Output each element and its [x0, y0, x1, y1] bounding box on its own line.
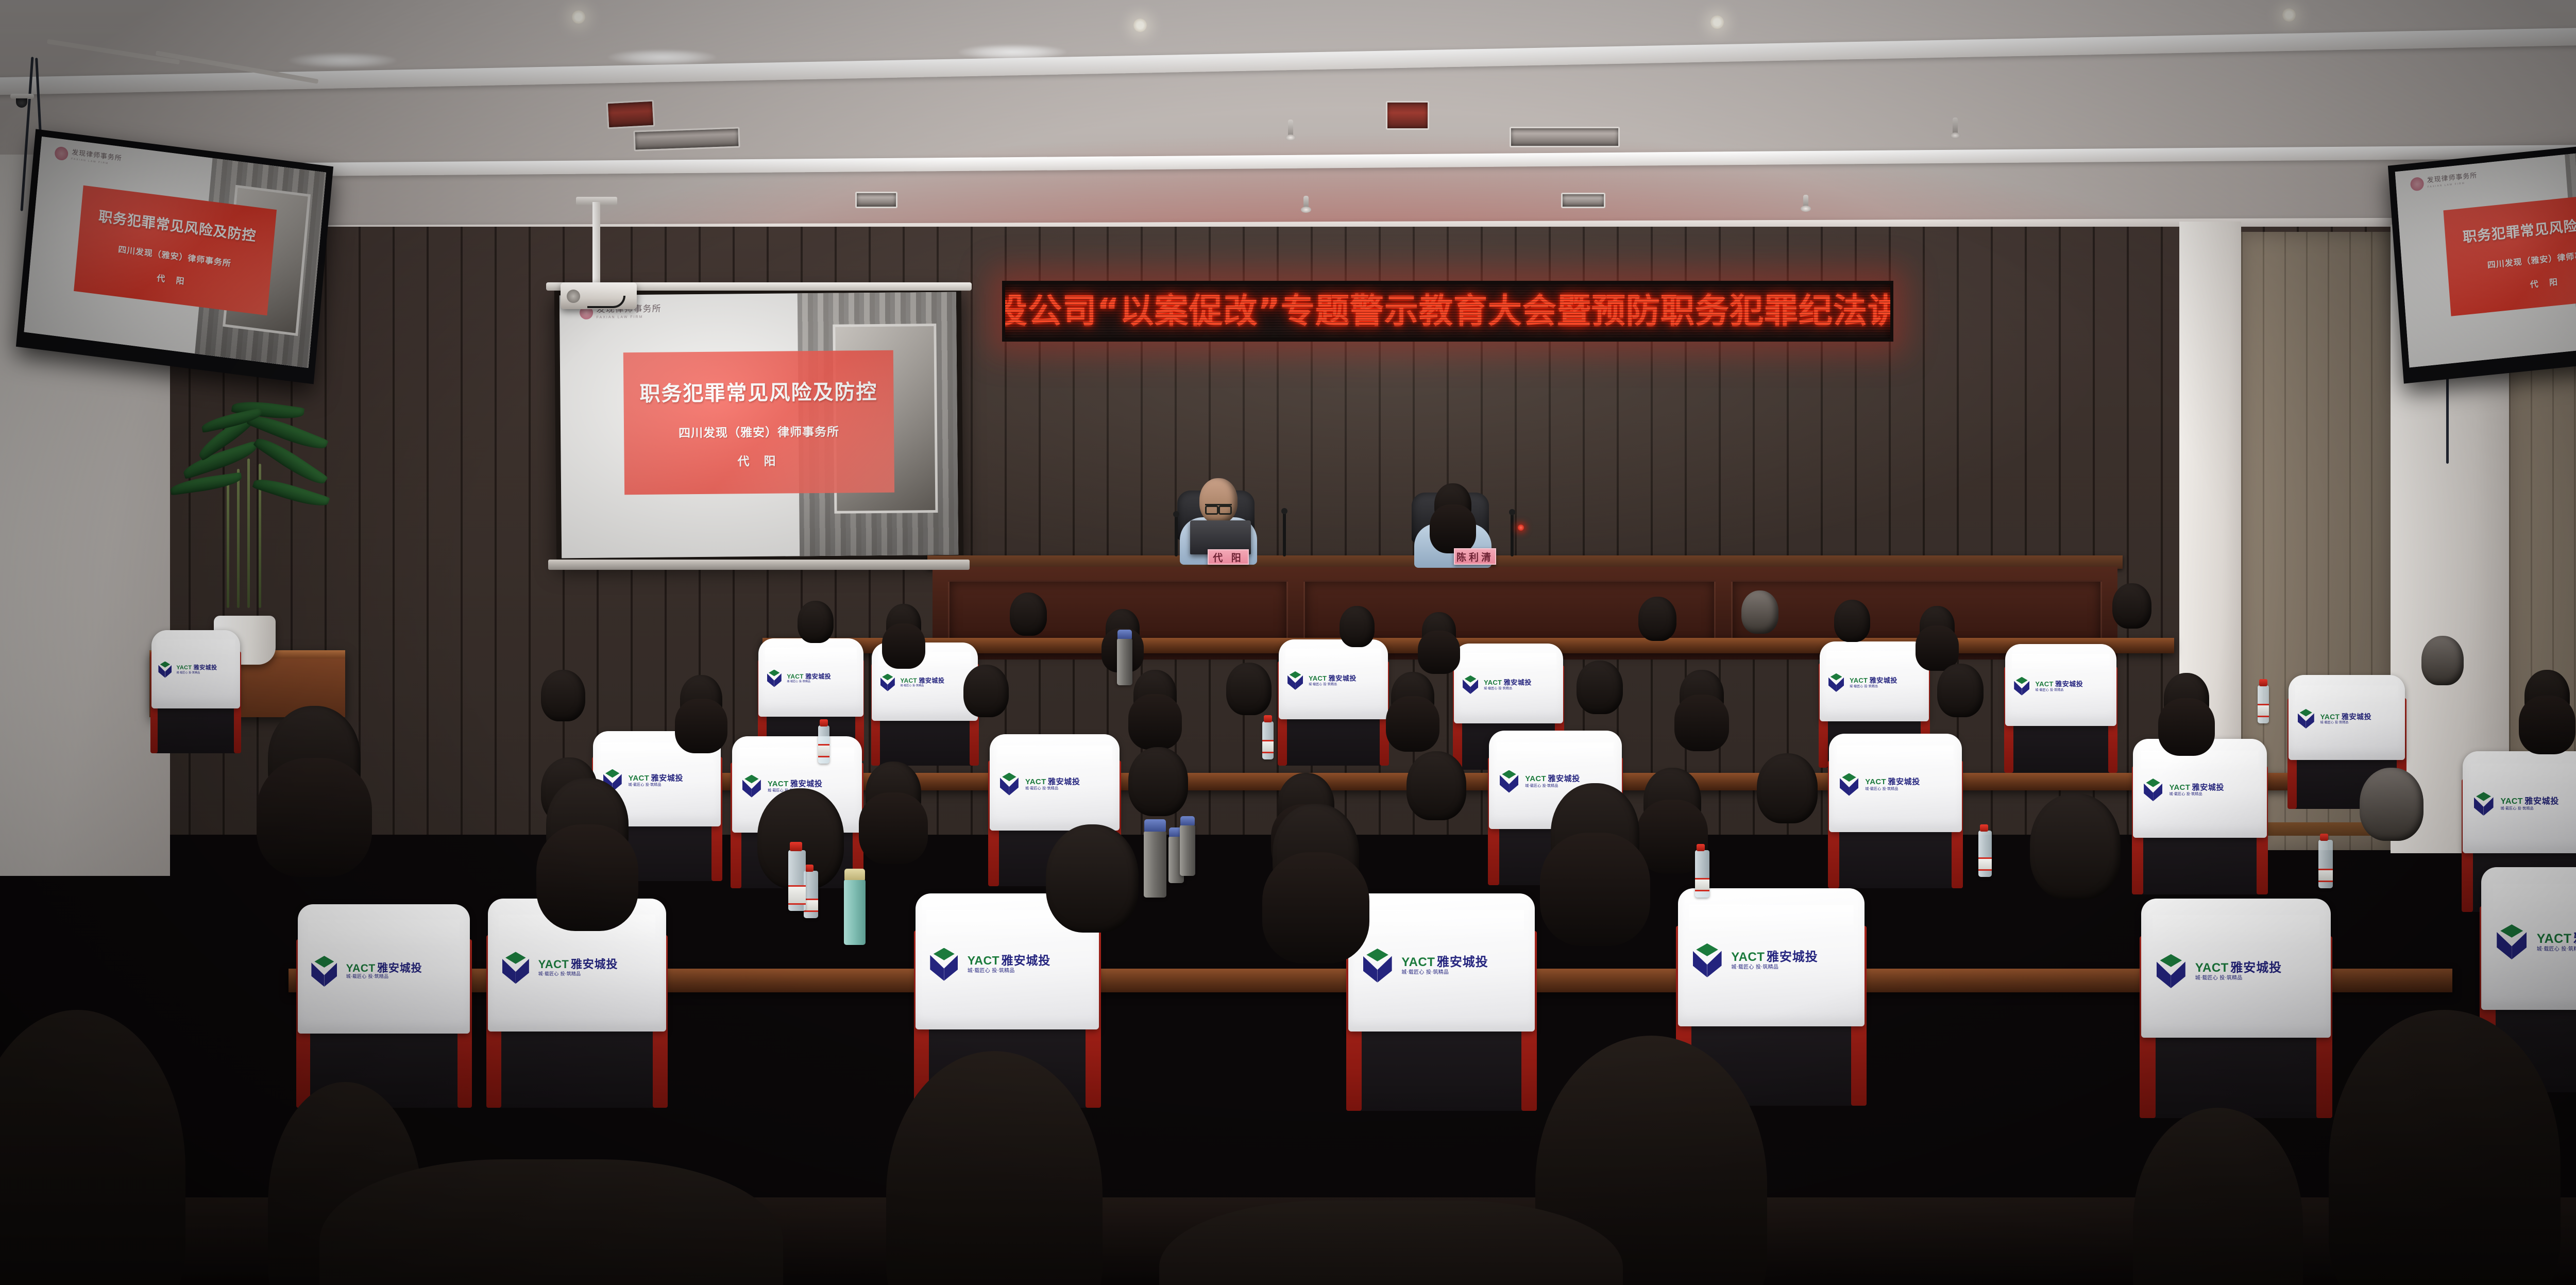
- audience-head: [1128, 747, 1188, 816]
- chair-cover: YACT雅安城投 城·载匠心 投·筑精品: [990, 734, 1120, 831]
- audience-head: [1920, 606, 1955, 647]
- brand-tagline: 城·载匠心 投·筑精品: [1865, 787, 1920, 791]
- yact-cube-icon: [2144, 779, 2162, 801]
- chair-cover-logo: YACT 雅安城投 城·载匠心 投·筑精品: [158, 662, 235, 678]
- brand-tagline: 城·载匠心 投·筑精品: [176, 672, 217, 674]
- audience-head: [2164, 673, 2209, 725]
- brand-en: YACT: [2170, 784, 2191, 791]
- slide-title-block: 职务犯罪常见风险及防控 四川发现（雅安）律师事务所 代 阳: [623, 350, 894, 495]
- yact-cube-icon: [1693, 943, 1722, 977]
- wall-tv-left: 发现律师事务所 FAXIAN LAW FIRM 职务犯罪常见风险及防控 四川发现…: [16, 129, 333, 384]
- chair-cover: YACT雅安城投 城·载匠心 投·筑精品: [2289, 675, 2405, 760]
- audience-head: [1010, 593, 1047, 636]
- chair[interactable]: YACT雅安城投 城·载匠心 投·筑精品: [2009, 649, 2112, 773]
- projector-lens-icon: [567, 290, 580, 303]
- audience-head: [1643, 768, 1701, 835]
- yact-cube-icon: [742, 775, 761, 798]
- water-bottle: [2318, 840, 2333, 888]
- brand-cn: 雅安城投: [1504, 680, 1532, 686]
- sprinkler-head: [1803, 195, 1808, 208]
- ac-vent: [855, 192, 897, 208]
- brand-tagline: 城·载匠心 投·筑精品: [1484, 687, 1532, 690]
- audience-head: [2030, 793, 2121, 900]
- audience-head: [1680, 670, 1724, 721]
- brand-tagline: 城·载匠心 投·筑精品: [538, 972, 618, 977]
- brand-en: YACT: [968, 955, 999, 967]
- brand-en: YACT: [900, 678, 917, 684]
- audience-head: [866, 762, 921, 826]
- brand-en: YACT: [1309, 675, 1327, 682]
- thermos-flask: [1144, 831, 1166, 898]
- brand-tagline: 城·载匠心 投·筑精品: [1525, 784, 1580, 788]
- brand-en: YACT: [2501, 798, 2523, 806]
- chair-cover: YACT雅安城投 城·载匠心 投·筑精品: [1279, 639, 1388, 720]
- chair-cover: YACT雅安城投 城·载匠心 投·筑精品: [1820, 641, 1929, 722]
- chair-cover: YACT雅安城投 城·载匠心 投·筑精品: [1348, 893, 1535, 1032]
- audience-head: [2360, 768, 2424, 841]
- brand-tagline: 城·载匠心 投·筑精品: [1850, 685, 1897, 688]
- foreground-audience-head: [2133, 1108, 2303, 1285]
- water-bottle: [804, 871, 818, 918]
- audience-head: [2524, 670, 2570, 723]
- water-bottle: [2258, 685, 2269, 723]
- ac-vent: [1510, 127, 1620, 147]
- ceiling-light-glow: [289, 53, 397, 68]
- brand-en: YACT: [787, 673, 804, 680]
- brand-tagline: 城·载匠心 投·筑精品: [968, 969, 1051, 974]
- brand-cn: 雅安城投: [651, 774, 683, 782]
- name-card-text: 陈利清: [1456, 550, 1494, 564]
- sprinkler-head: [1288, 120, 1293, 137]
- yact-cube-icon: [2298, 709, 2314, 729]
- brand-tagline: 城·载匠心 投·筑精品: [1309, 683, 1357, 686]
- chair-cover: YACT雅安城投 城·载匠心 投·筑精品: [1829, 734, 1961, 832]
- water-bottle: [818, 725, 829, 764]
- brand-en: YACT: [1731, 951, 1765, 963]
- brand-cn: 雅安城投: [1870, 678, 1897, 684]
- brand-tagline: 城·载匠心 投·筑精品: [1401, 970, 1488, 975]
- yact-cube-icon: [502, 952, 529, 984]
- ceiling-downlight: [572, 10, 585, 24]
- chair[interactable]: YACT雅安城投 城·载匠心 投·筑精品: [1834, 740, 1957, 888]
- presentation-slide: 发现律师事务所 FAXIAN LAW FIRM 职务犯罪常见风险及防控 四川发现…: [560, 292, 958, 559]
- name-card-text: 代 阳: [1213, 550, 1244, 564]
- yact-cube-icon: [2157, 954, 2185, 988]
- brand-en: YACT: [628, 774, 649, 782]
- brand-en: YACT: [768, 780, 789, 788]
- brand-tagline: 城·载匠心 投·筑精品: [2035, 689, 2083, 692]
- chair[interactable]: YACT雅安城投 城·载匠心 投·筑精品: [495, 907, 659, 1108]
- microphone: [1175, 515, 1178, 556]
- yact-cube-icon: [880, 674, 895, 691]
- slide-title: 职务犯罪常见风险及防控: [2462, 210, 2576, 246]
- chair-cover: YACT雅安城投 城·载匠心 投·筑精品: [1454, 644, 1563, 724]
- audience-head: [798, 601, 834, 643]
- led-banner-text: 城投公司“以案促改”专题警示教育大会暨预防职务犯罪纪法讲座: [1002, 294, 1893, 328]
- brand-en: YACT: [1525, 775, 1546, 783]
- microphone: [1283, 512, 1286, 556]
- brand-cn: 雅安城投: [2192, 784, 2224, 791]
- brand-tagline: 城·载匠心 投·筑精品: [1025, 787, 1080, 790]
- foreground-audience-shoulders: [1159, 1201, 1623, 1285]
- law-firm-logo-en: FAXIAN LAW FIRM: [597, 315, 662, 319]
- wall-tv-right: 发现律师事务所 FAXIAN LAW FIRM 职务犯罪常见风险及防控 四川发现…: [2388, 136, 2576, 383]
- audience-head: [268, 706, 361, 814]
- brand-tagline: 城·载匠心 投·筑精品: [2501, 807, 2559, 810]
- foreground-audience-shoulders: [319, 1159, 783, 1285]
- audience-head: [1638, 597, 1676, 641]
- ceiling-light-glow: [608, 49, 716, 65]
- yact-cube-icon: [1287, 671, 1303, 690]
- brand-cn: 雅安城投: [1048, 778, 1080, 786]
- brand-cn: 雅安城投: [2573, 932, 2576, 945]
- tv-right-slide: 发现律师事务所 FAXIAN LAW FIRM 职务犯罪常见风险及防控 四川发现…: [2395, 143, 2576, 368]
- brand-cn: 雅安城投: [1888, 778, 1920, 786]
- yact-cube-icon: [158, 662, 172, 678]
- ceiling-downlight: [1133, 19, 1147, 32]
- slide-organization: 四川发现（雅安）律师事务所: [117, 242, 232, 269]
- audience-head: [1422, 612, 1456, 651]
- sprinkler-head: [1953, 117, 1958, 135]
- brand-cn: 雅安城投: [919, 678, 944, 684]
- audience-head: [1551, 783, 1639, 886]
- brand-en: YACT: [538, 959, 569, 970]
- yact-cube-icon: [2014, 677, 2029, 696]
- slide-title: 职务犯罪常见风险及防控: [98, 205, 257, 245]
- projector: [561, 282, 637, 309]
- chair-cover: YACT雅安城投 城·载匠心 投·筑精品: [758, 638, 863, 717]
- slide-presenter: 代 阳: [737, 451, 781, 469]
- audience-head: [963, 665, 1009, 717]
- audience-head: [680, 675, 722, 724]
- brand-en: YACT: [1401, 956, 1435, 969]
- brand-en: YACT: [2195, 962, 2229, 974]
- chair-cover: YACT雅安城投 城·载匠心 投·筑精品: [2005, 644, 2116, 725]
- projector-pole: [592, 202, 600, 289]
- brand-en: YACT: [2537, 933, 2572, 945]
- cctv-camera-icon: [10, 94, 34, 109]
- conference-hall-photo: 城投公司“以案促改”专题警示教育大会暨预防职务犯罪纪法讲座 发现律师事务所 FA…: [0, 0, 2576, 1285]
- slide-organization: 四川发现（雅安）律师事务所: [2487, 247, 2576, 270]
- yact-cube-icon: [1363, 949, 1392, 983]
- yact-cube-icon: [767, 670, 782, 687]
- ac-vent: [1561, 193, 1605, 208]
- brand-tagline: 城·载匠心 投·筑精品: [2195, 976, 2282, 981]
- brand-en: YACT: [1865, 778, 1886, 786]
- brand-en: YACT: [2035, 681, 2053, 687]
- audience-head: [1406, 751, 1466, 820]
- chair[interactable]: YACT雅安城投 城·载匠心 投·筑精品: [304, 912, 464, 1108]
- audience-head: [1133, 670, 1177, 720]
- yact-cube-icon: [1500, 770, 1518, 793]
- chair[interactable]: YACT雅安城投 城·载匠心 投·筑精品: [1355, 902, 1528, 1111]
- yact-cube-icon: [930, 948, 958, 981]
- water-bottle: [1262, 721, 1274, 759]
- yact-cube-icon: [1000, 773, 1019, 796]
- audience-head: [1046, 824, 1139, 933]
- water-bottle: [1695, 850, 1709, 898]
- slide-presenter: 代 阳: [156, 271, 189, 288]
- audience-head: [1391, 672, 1434, 722]
- audience-head: [1273, 804, 1359, 905]
- ac-vent: [633, 127, 740, 151]
- brand-en: YACT: [2320, 713, 2340, 720]
- yact-cube-icon: [1828, 673, 1844, 692]
- audience-head: [546, 778, 629, 875]
- ceiling-downlight: [1710, 15, 1724, 29]
- chair[interactable]: YACT雅安城投 城·载匠心 投·筑精品: [1283, 644, 1384, 766]
- audience-head: [1226, 663, 1272, 715]
- brand-cn: 雅安城投: [2230, 961, 2282, 974]
- brand-en: YACT: [1025, 778, 1046, 786]
- brand-en: YACT: [176, 665, 192, 671]
- ceiling-light-band: [0, 144, 2576, 179]
- brand-tagline: 城·载匠心 投·筑精品: [1731, 965, 1818, 970]
- chair-cover: YACT 雅安城投 城·载匠心 投·筑精品: [151, 630, 241, 708]
- ceiling-light-glow: [958, 44, 1066, 60]
- brand-tagline: 城·载匠心 投·筑精品: [900, 685, 944, 687]
- yact-cube-icon: [1840, 773, 1858, 796]
- yact-cube-icon: [311, 956, 337, 987]
- yact-cube-icon: [2474, 792, 2494, 816]
- brand-tagline: 城·载匠心 投·筑精品: [2170, 792, 2225, 796]
- brand-cn: 雅安城投: [1329, 675, 1357, 682]
- audience-head: [886, 604, 921, 645]
- glasses-icon: [1205, 504, 1232, 511]
- brand-cn: 雅安城投: [1002, 955, 1051, 967]
- brand-cn: 雅安城投: [2342, 714, 2371, 721]
- foreground-audience-head: [0, 1010, 185, 1285]
- audience-head: [1741, 590, 1778, 634]
- name-card: 代 阳: [1208, 549, 1249, 565]
- water-bottle: [1978, 831, 1992, 877]
- brand-cn: 雅安城投: [1767, 951, 1818, 963]
- ac-vent: [1386, 101, 1429, 130]
- slide-title: 职务犯罪常见风险及防控: [639, 375, 877, 407]
- audience-head: [1577, 661, 1623, 714]
- audience-head: [541, 670, 585, 721]
- chair[interactable]: YACT雅安城投 城·载匠心 投·筑精品: [2148, 907, 2324, 1118]
- audience-head: [2421, 636, 2464, 685]
- brand-cn: 雅安城投: [377, 963, 422, 974]
- brand-cn: 雅安城投: [1437, 956, 1488, 968]
- brand-tagline: 城·载匠心 投·筑精品: [2537, 947, 2576, 952]
- ac-vent: [606, 100, 655, 129]
- projection-screen-bottom-bar: [548, 560, 970, 570]
- microphone-active-led: [1518, 525, 1524, 531]
- microphone: [1511, 513, 1514, 556]
- brand-cn: 雅安城投: [2524, 797, 2559, 805]
- tv-left-slide: 发现律师事务所 FAXIAN LAW FIRM 职务犯罪常见风险及防控 四川发现…: [24, 137, 326, 368]
- brand-cn: 雅安城投: [1548, 775, 1580, 783]
- brand-cn: 雅安城投: [194, 665, 217, 670]
- audience-head: [2112, 583, 2151, 629]
- brand-en: YACT: [1850, 677, 1868, 684]
- chair-cover: YACT雅安城投 城·载匠心 投·筑精品: [2481, 867, 2576, 1010]
- projection-screen: 发现律师事务所 FAXIAN LAW FIRM 职务犯罪常见风险及防控 四川发现…: [554, 287, 964, 564]
- chair[interactable]: YACT 雅安城投 城·载匠心 投·筑精品: [155, 635, 237, 753]
- chair-cover: YACT雅安城投 城·载匠心 投·筑精品: [2141, 899, 2330, 1038]
- brand-cn: 雅安城投: [571, 959, 618, 971]
- brand-tagline: 城·载匠心 投·筑精品: [346, 975, 422, 979]
- yact-cube-icon: [2497, 924, 2527, 959]
- chair-cover: YACT雅安城投 城·载匠心 投·筑精品: [1678, 888, 1865, 1026]
- brand-cn: 雅安城投: [2055, 681, 2083, 688]
- brand-en: YACT: [1484, 679, 1502, 686]
- slide-organization: 四川发现（雅安）律师事务所: [679, 422, 839, 441]
- thermos-flask: [1117, 638, 1132, 685]
- chair-cover: YACT雅安城投 城·载匠心 投·筑精品: [2463, 751, 2576, 853]
- chair[interactable]: YACT雅安城投 城·载匠心 投·筑精品: [2138, 745, 2262, 894]
- thermos-flask: [1180, 824, 1195, 876]
- brand-tagline: 城·载匠心 投·筑精品: [628, 783, 683, 787]
- bamboo-palm-plant: [170, 397, 325, 623]
- sprinkler-head: [1303, 196, 1309, 209]
- ceiling-downlight: [2282, 8, 2296, 22]
- led-headline-banner: 城投公司“以案促改”专题警示教育大会暨预防职务犯罪纪法讲座: [1002, 281, 1893, 342]
- slide-presenter: 代 阳: [2530, 275, 2562, 290]
- brand-cn: 雅安城投: [805, 673, 831, 680]
- chair-cover: YACT雅安城投 城·载匠心 投·筑精品: [298, 904, 470, 1034]
- yact-cube-icon: [1463, 675, 1478, 694]
- audience-head: [1834, 600, 1870, 642]
- brand-en: YACT: [346, 963, 376, 974]
- thermos-flask: [844, 879, 866, 945]
- audience-head: [1937, 664, 1984, 717]
- brand-cn: 雅安城投: [790, 780, 822, 788]
- audience-head: [1757, 753, 1818, 823]
- name-card: 陈利清: [1454, 548, 1496, 565]
- water-bottle: [788, 850, 806, 911]
- audience-head: [1340, 606, 1375, 647]
- brand-tagline: 城·载匠心 投·筑精品: [2320, 721, 2371, 724]
- brand-tagline: 城·载匠心 投·筑精品: [787, 681, 831, 683]
